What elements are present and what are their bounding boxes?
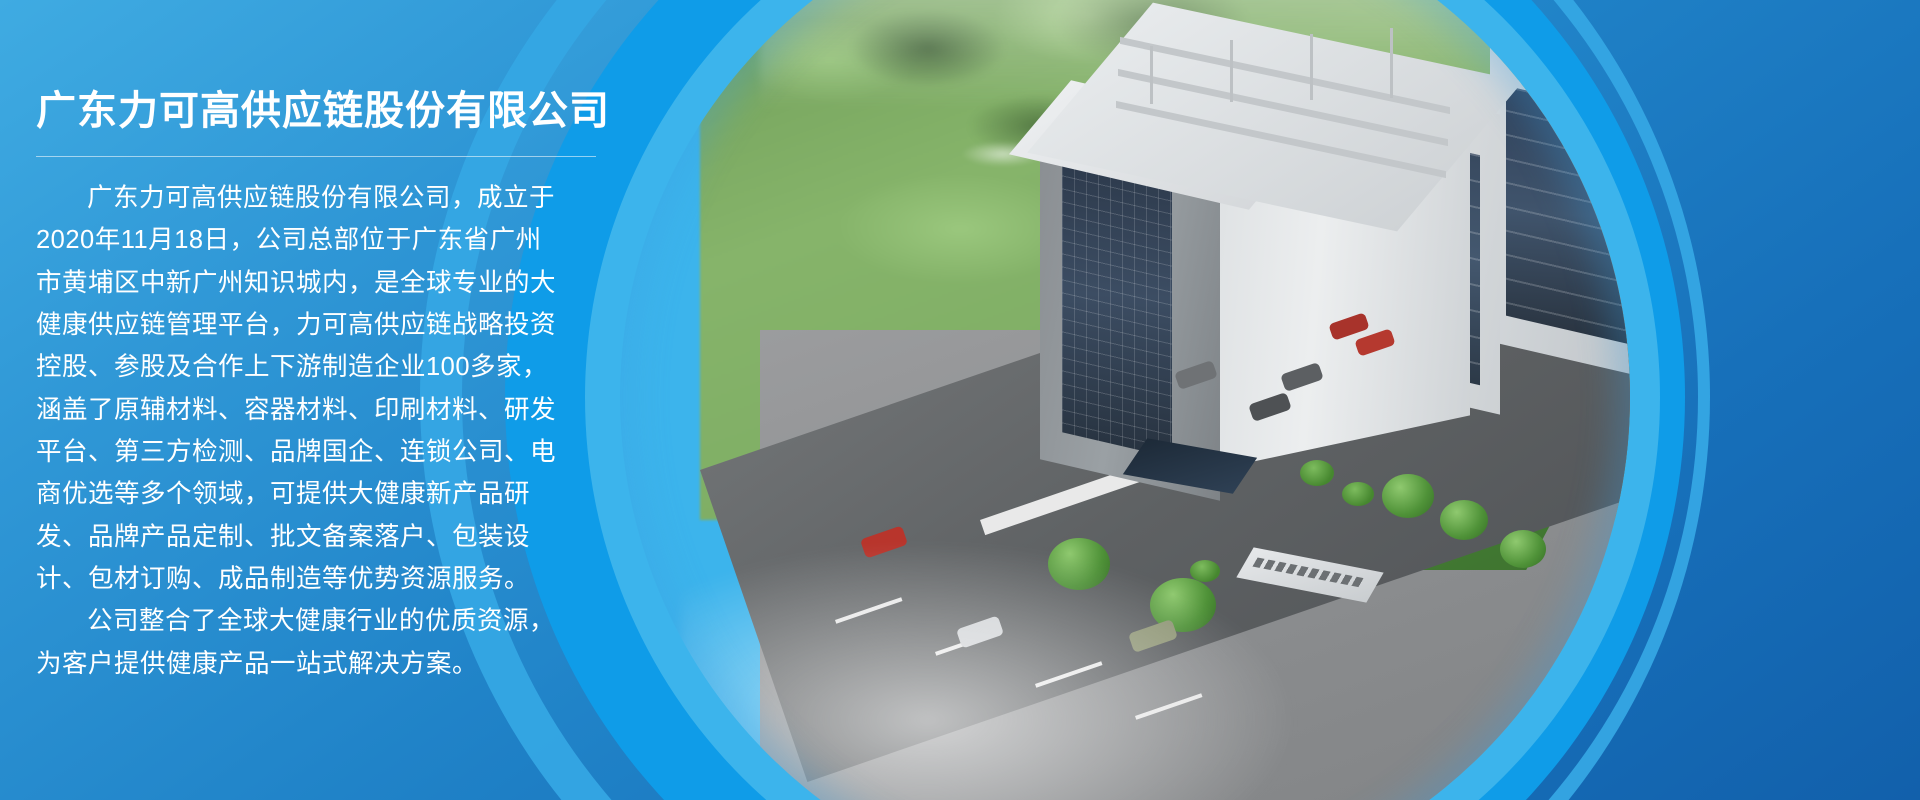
shrub — [1342, 482, 1374, 506]
building-block-three-glazing — [1506, 86, 1630, 345]
roof-railing-post — [1150, 46, 1153, 104]
company-intro-body: 广东力可高供应链股份有限公司，成立于2020年11月18日，公司总部位于广东省广… — [36, 177, 556, 685]
intro-paragraph-1: 广东力可高供应链股份有限公司，成立于2020年11月18日，公司总部位于广东省广… — [36, 177, 556, 600]
tower-curtain-wall — [1062, 162, 1172, 457]
company-profile-banner: 广东力可高供应链股份有限公司 广东力可高供应链股份有限公司，成立于2020年11… — [0, 0, 1920, 800]
page-title: 广东力可高供应链股份有限公司 — [36, 86, 560, 136]
roof-railing-post — [1390, 28, 1393, 98]
street-tree — [1382, 474, 1434, 518]
street-tree — [1500, 530, 1546, 568]
headquarters-photo — [620, 0, 1630, 800]
building-render-scene — [620, 0, 1630, 800]
roof-railing-post — [1310, 34, 1313, 100]
roof-railing-post — [1230, 40, 1233, 102]
intro-paragraph-2: 公司整合了全球大健康行业的优质资源，为客户提供健康产品一站式解决方案。 — [36, 600, 556, 685]
atmospheric-haze-bottom — [680, 540, 1300, 800]
company-intro-text-column: 广东力可高供应链股份有限公司 广东力可高供应链股份有限公司，成立于2020年11… — [0, 0, 620, 800]
shrub — [1300, 460, 1334, 486]
street-tree — [1440, 500, 1488, 540]
title-divider — [36, 156, 596, 157]
